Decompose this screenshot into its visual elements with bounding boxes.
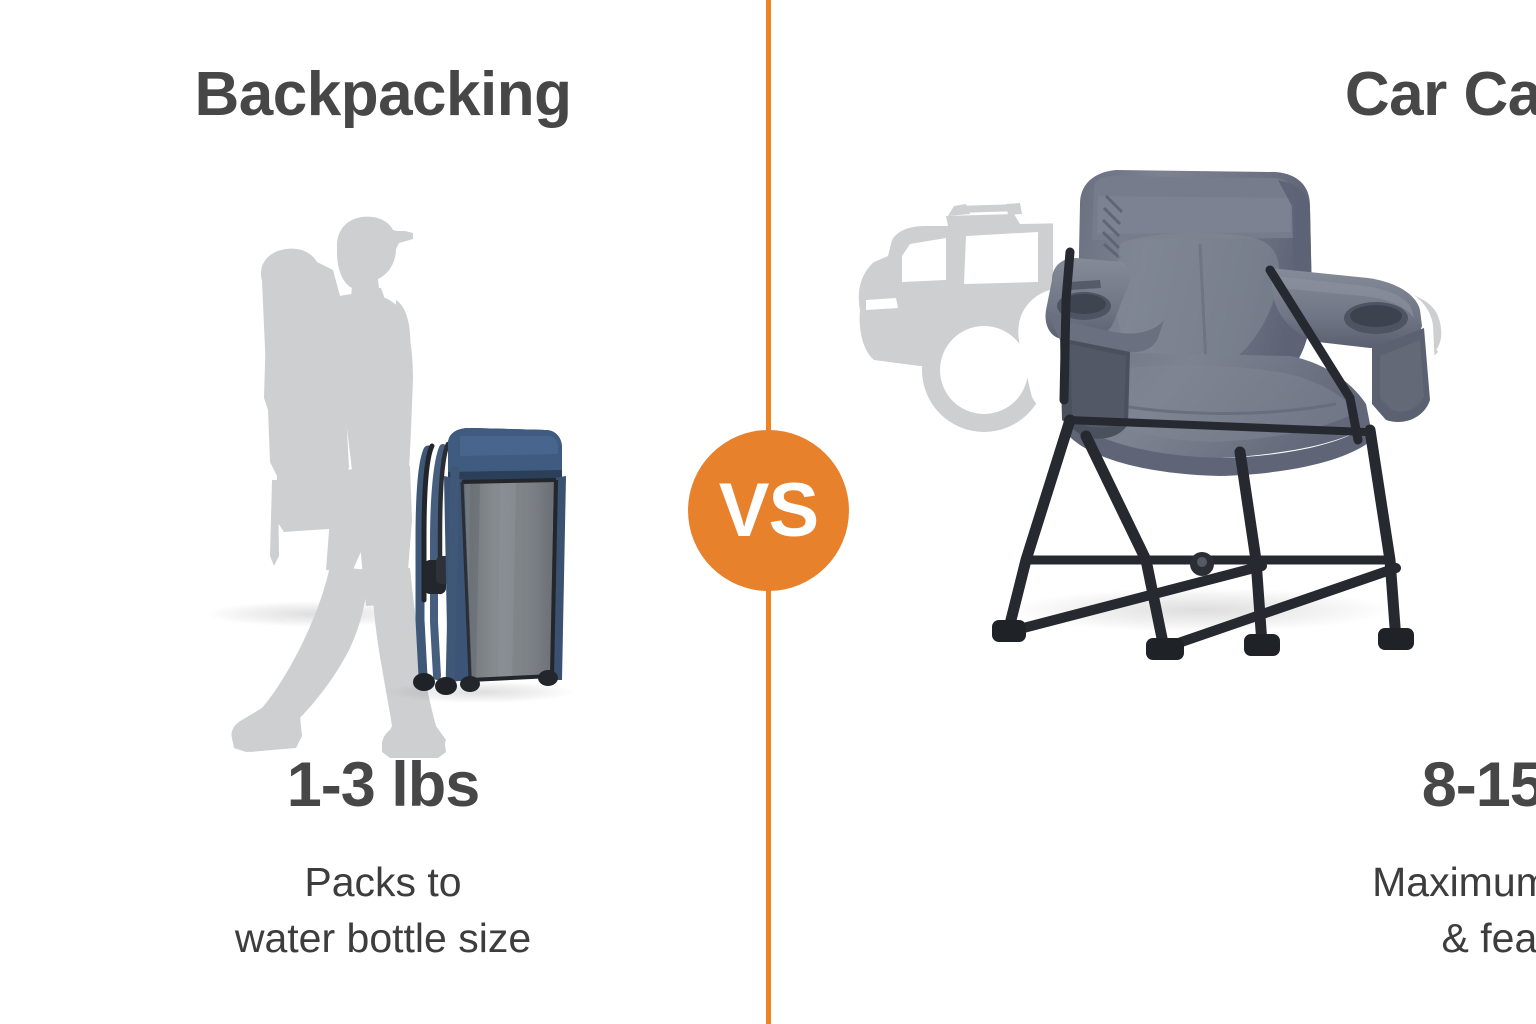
- suv-car-silhouette: [859, 203, 1442, 366]
- caption-line-2: & features: [1152, 911, 1536, 967]
- panel-car-camping: Car Camping 8-15 lbs Maximum comfort & f…: [770, 0, 1536, 1024]
- folded-backpacking-chair: [385, 428, 575, 703]
- car-camping-chair: [992, 156, 1430, 660]
- caption-line-1: Packs to: [0, 855, 766, 911]
- hiker-shadow: [205, 601, 425, 627]
- vs-label: VS: [719, 473, 818, 549]
- suv-windows: [866, 230, 1432, 352]
- hiker-with-backpack-silhouette: [231, 217, 446, 758]
- suv-wheels: [922, 306, 1390, 432]
- caption-line-2: water bottle size: [0, 911, 766, 967]
- infographic-canvas: Backpacking 1-3 lbs Packs to water bottl…: [0, 0, 1536, 1024]
- vs-badge-circle: VS: [688, 430, 849, 591]
- caption-line-1: Maximum comfort: [1152, 855, 1536, 911]
- panel-backpacking: Backpacking 1-3 lbs Packs to water bottl…: [0, 0, 766, 1024]
- caption-car-camping: Maximum comfort & features: [770, 855, 1536, 967]
- weight-value-car-camping: 8-15 lbs: [770, 752, 1536, 818]
- page-title-car-camping: Car Camping: [770, 62, 1536, 127]
